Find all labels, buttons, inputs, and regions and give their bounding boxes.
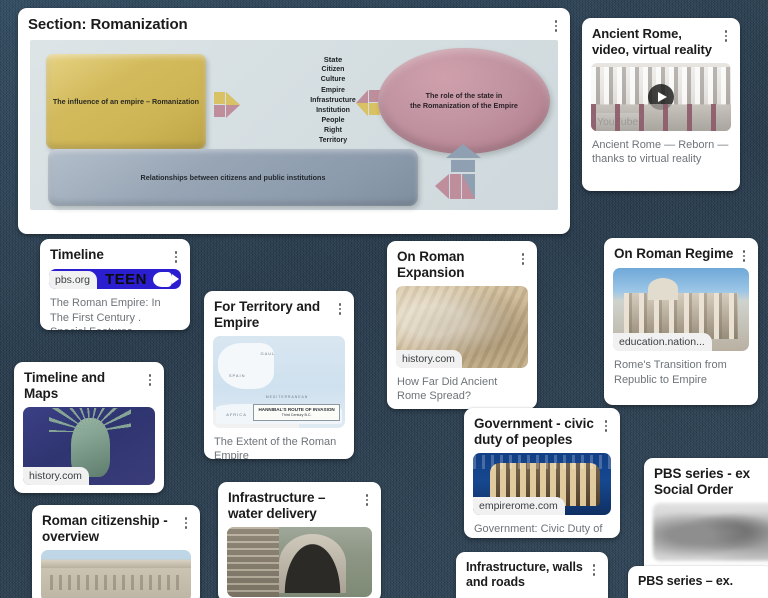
card-caption: How Far Did Ancient Rome Spread? <box>387 368 537 409</box>
card-title: Roman citizenship - overview <box>42 513 180 546</box>
card-ancient-rome-video[interactable]: Ancient Rome, video, virtual reality You… <box>582 18 740 191</box>
kebab-menu-icon[interactable] <box>170 249 182 265</box>
kebab-menu-icon[interactable] <box>720 28 732 44</box>
pbs-logo-icon <box>153 272 172 287</box>
diagram-ellipse-label: The role of the state in the Romanizatio… <box>410 91 518 112</box>
card-timeline-and-maps[interactable]: Timeline and Maps history.com Ancient Ro… <box>14 362 164 493</box>
card-thumbnail[interactable] <box>653 503 768 561</box>
card-header: Government - civic duty of peoples <box>464 408 620 453</box>
play-button-icon[interactable] <box>648 84 674 110</box>
ellipse-line-2: the Romanization of the Empire <box>410 101 518 110</box>
card-title: Timeline and Maps <box>24 370 144 403</box>
domain-badge: empirerome.com <box>473 497 565 515</box>
source-badge: YouTube <box>591 113 645 131</box>
card-title: Government - civic duty of peoples <box>474 416 600 449</box>
kebab-menu-icon[interactable] <box>361 492 373 508</box>
arrow-left-icon <box>356 90 380 116</box>
card-caption: The Extent of the Roman Empire <box>204 428 354 459</box>
card-title: PBS series – ex. <box>638 574 766 589</box>
map-title: HANNIBAL'S ROUTE OF INVASION <box>258 407 334 412</box>
card-title: Ancient Rome, video, virtual reality <box>592 26 720 58</box>
card-header: Roman citizenship - overview <box>32 505 200 550</box>
diagram-bar-label: Relationships between citizens and publi… <box>141 173 326 182</box>
keyword-right: Right <box>285 126 381 136</box>
card-thumbnail[interactable] <box>227 527 372 597</box>
card-thumbnail[interactable]: history.com <box>396 286 528 368</box>
card-thumbnail[interactable]: GAUL SPAIN AFRICA MEDITERRANEAN HANNIBAL… <box>213 336 345 428</box>
card-header: Timeline and Maps <box>14 362 164 407</box>
diagram-gold-box: The influence of an empire – Romanizatio… <box>46 54 206 149</box>
diagram-gold-box-label: The influence of an empire – Romanizatio… <box>53 97 199 106</box>
keyword-citizen: Citizen <box>285 65 381 75</box>
pinboard-canvas[interactable]: Section: Romanization The influence of a… <box>0 0 768 598</box>
video-thumbnail[interactable]: YouTube <box>591 63 731 131</box>
arrow-right-icon <box>214 92 240 118</box>
card-pbs-series-ex[interactable]: PBS series – ex. <box>628 566 768 598</box>
card-header: On Roman Expansion <box>387 241 537 286</box>
card-thumbnail[interactable]: empirerome.com <box>473 453 611 515</box>
card-government-civic-duty[interactable]: Government - civic duty of peoples empir… <box>464 408 620 538</box>
card-thumbnail[interactable]: history.com <box>23 407 155 485</box>
card-infrastructure-water-delivery[interactable]: Infrastructure – water delivery <box>218 482 381 598</box>
map-label-mediterranean: MEDITERRANEAN <box>266 395 308 399</box>
card-on-roman-expansion[interactable]: On Roman Expansion history.com How Far D… <box>387 241 537 409</box>
card-header: Infrastructure, walls and roads <box>456 552 608 595</box>
keyword-state: State <box>285 54 381 65</box>
card-header: Section: Romanization <box>18 8 570 38</box>
diagram-blue-bar: Relationships between citizens and publi… <box>48 149 418 206</box>
card-thumbnail[interactable] <box>41 550 191 598</box>
pbs-teen-label: TEEN <box>105 271 147 288</box>
keyword-territory: Territory <box>285 136 381 146</box>
kebab-menu-icon[interactable] <box>550 18 562 34</box>
domain-badge: history.com <box>396 350 462 368</box>
card-header: PBS series - ex Social Order <box>644 458 768 503</box>
page-title: Section: Romanization <box>28 16 550 34</box>
card-title: Infrastructure – water delivery <box>228 490 361 523</box>
card-thumbnail[interactable]: TEEN pbs.org <box>49 269 181 289</box>
card-title: On Roman Regime <box>614 246 738 262</box>
card-header: PBS series – ex. <box>628 566 768 593</box>
card-timeline[interactable]: Timeline TEEN pbs.org The Roman Empire: … <box>40 239 190 330</box>
card-title: PBS series - ex Social Order <box>654 466 768 499</box>
card-header: For Territory and Empire <box>204 291 354 336</box>
card-title: Timeline <box>50 247 170 263</box>
keyword-people: People <box>285 116 381 126</box>
domain-badge: pbs.org <box>49 271 97 289</box>
map-label-gaul: GAUL <box>261 351 276 356</box>
keyword-culture: Culture <box>285 75 381 85</box>
domain-badge: education.nation... <box>613 333 712 351</box>
kebab-menu-icon[interactable] <box>738 248 750 264</box>
card-caption: Ancient Rome — Reborn — thanks to virtua… <box>582 131 740 176</box>
card-caption: The Roman Empire: In The First Century .… <box>40 289 190 330</box>
kebab-menu-icon[interactable] <box>588 562 600 578</box>
card-thumbnail[interactable]: education.nation... <box>613 268 749 351</box>
card-caption: Ancient Rome - Facts, Location, & Timeli… <box>14 485 164 493</box>
kebab-menu-icon[interactable] <box>334 301 346 317</box>
kebab-menu-icon[interactable] <box>600 418 612 434</box>
card-title: On Roman Expansion <box>397 249 517 282</box>
card-header: Ancient Rome, video, virtual reality <box>582 18 740 62</box>
map-title-box: HANNIBAL'S ROUTE OF INVASION Third Centu… <box>253 404 339 421</box>
card-header: Timeline <box>40 239 190 269</box>
ellipse-line-1: The role of the state in <box>426 91 503 100</box>
card-caption: Rome's Transition from Republic to Empir… <box>604 351 758 396</box>
kebab-menu-icon[interactable] <box>517 251 529 267</box>
card-title: For Territory and Empire <box>214 299 334 332</box>
diagram-pink-ellipse: The role of the state in the Romanizatio… <box>378 48 550 154</box>
map-label-africa: AFRICA <box>226 412 247 417</box>
domain-badge: history.com <box>23 467 89 485</box>
card-for-territory-and-empire[interactable]: For Territory and Empire GAUL SPAIN AFRI… <box>204 291 354 459</box>
card-header: Infrastructure – water delivery <box>218 482 381 527</box>
card-infrastructure-walls-and-roads[interactable]: Infrastructure, walls and roads <box>456 552 608 598</box>
kebab-menu-icon[interactable] <box>180 515 192 531</box>
card-caption: Government: Civic Duty of Ancient Roman … <box>464 515 620 538</box>
card-on-roman-regime[interactable]: On Roman Regime education.nation... Rome… <box>604 238 758 405</box>
card-title: Infrastructure, walls and roads <box>466 560 588 591</box>
arrow-cluster-icon <box>435 144 483 200</box>
romanization-diagram: The influence of an empire – Romanizatio… <box>30 40 558 210</box>
card-pbs-series-social-order[interactable]: PBS series - ex Social Order <box>644 458 768 576</box>
card-section-romanization[interactable]: Section: Romanization The influence of a… <box>18 8 570 234</box>
map-subtitle: Third Century B.C. <box>258 413 334 418</box>
map-label-spain: SPAIN <box>229 373 246 378</box>
kebab-menu-icon[interactable] <box>144 372 156 388</box>
card-roman-citizenship[interactable]: Roman citizenship - overview <box>32 505 200 598</box>
card-header: On Roman Regime <box>604 238 758 268</box>
